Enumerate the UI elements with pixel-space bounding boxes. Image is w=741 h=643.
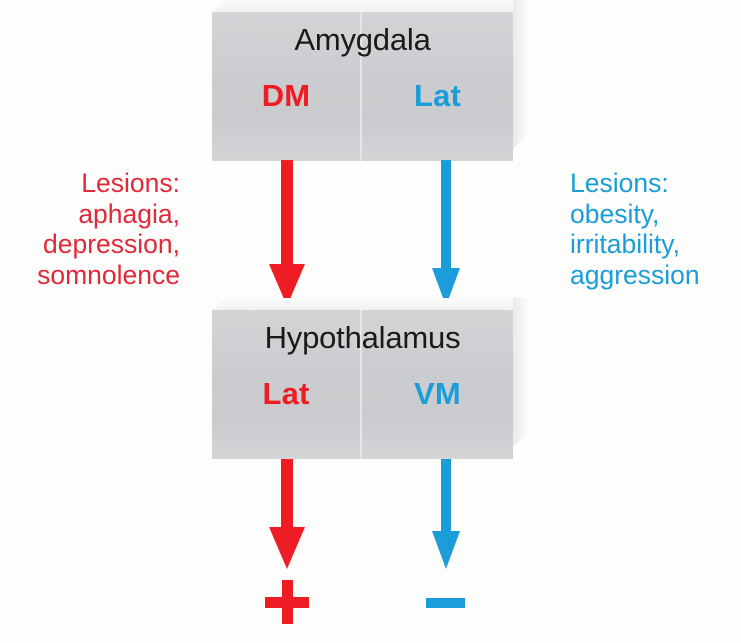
hypothalamus-box-front-face: Hypothalamus Lat VM <box>212 310 513 459</box>
caption-left-lesions: Lesions: aphagia, depression, somnolence <box>0 168 180 290</box>
hypothalamus-box-side-face <box>513 298 528 459</box>
hypothalamus-lat-label: Lat <box>212 376 360 412</box>
amygdala-box-front-face: Amygdala DM Lat <box>212 12 513 161</box>
amygdala-box-top-face <box>212 0 528 12</box>
amygdala-box-side-face <box>513 0 528 161</box>
arrow-lat-to-vm <box>428 160 464 306</box>
caption-right-lesions: Lesions: obesity, irritability, aggressi… <box>570 168 741 290</box>
amygdala-dm-label: DM <box>212 78 360 114</box>
plus-sign: + <box>262 577 312 632</box>
amygdala-lat-label: Lat <box>362 78 513 114</box>
minus-sign: − <box>420 577 470 632</box>
arrow-lat-to-plus <box>264 459 310 569</box>
hypothalamus-box-top-face <box>212 298 528 310</box>
hypothalamus-vm-label: VM <box>362 376 513 412</box>
diagram-canvas: Amygdala DM Lat Lesions: aphagia, depres… <box>0 0 741 643</box>
arrow-dm-to-lat <box>264 160 310 306</box>
arrow-vm-to-minus <box>428 459 464 569</box>
hypothalamus-title: Hypothalamus <box>212 320 513 356</box>
amygdala-title: Amygdala <box>212 22 513 58</box>
